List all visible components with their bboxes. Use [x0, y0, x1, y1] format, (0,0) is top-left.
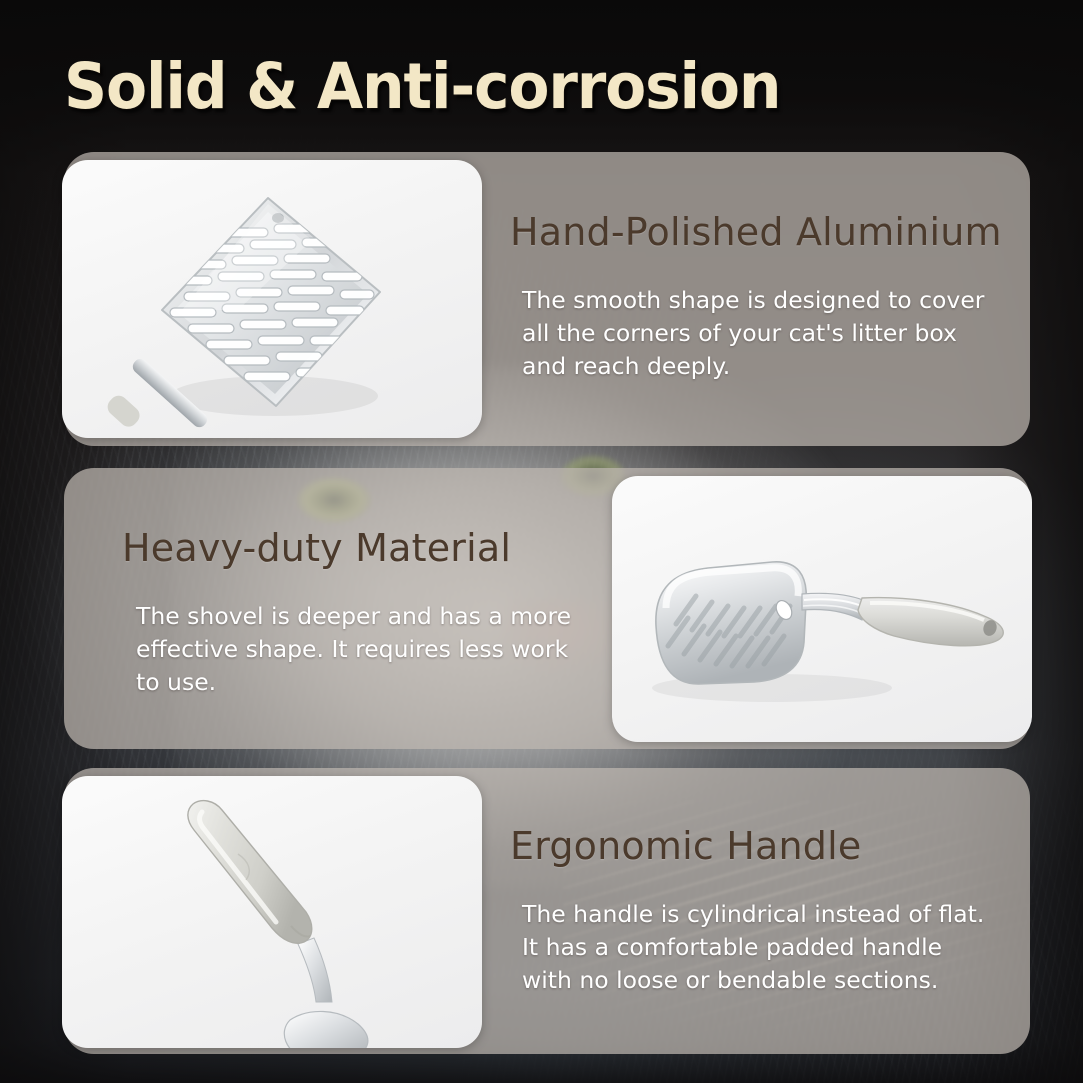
scoop-head-diamond-icon — [62, 160, 482, 438]
padded-handle — [858, 598, 1003, 646]
handle-closeup-icon — [62, 776, 482, 1048]
product-photo-card-handle-closeup — [62, 776, 482, 1048]
infographic-canvas: Solid & Anti-corrosion — [0, 0, 1083, 1083]
product-photo-card-full-scoop — [612, 476, 1032, 742]
scoop-neck — [802, 593, 868, 620]
feature-panel-ergonomic-handle: Ergonomic Handle The handle is cylindric… — [64, 768, 1030, 1054]
scoop-bowl-edge — [284, 1011, 368, 1048]
feature-panel-hand-polished-aluminium: Hand-Polished Aluminium The smooth shape… — [64, 152, 1030, 446]
feature-heading: Ergonomic Handle — [510, 824, 861, 868]
handle-metal-shaft — [284, 938, 368, 1048]
feature-text-hand-polished-aluminium: Hand-Polished Aluminium The smooth shape… — [508, 152, 1024, 446]
feature-heading: Hand-Polished Aluminium — [510, 210, 1002, 254]
feature-body: The smooth shape is designed to cover al… — [522, 284, 1022, 383]
padded-handle — [188, 801, 312, 944]
feature-body: The shovel is deeper and has a more effe… — [136, 600, 636, 699]
feature-text-ergonomic-handle: Ergonomic Handle The handle is cylindric… — [508, 768, 1024, 1054]
feature-heading: Heavy-duty Material — [122, 526, 511, 570]
product-photo-card-scoop-head — [62, 160, 482, 438]
full-scoop-icon — [612, 476, 1032, 742]
feature-body: The handle is cylindrical instead of fla… — [522, 898, 1022, 997]
page-title: Solid & Anti-corrosion — [64, 55, 780, 118]
feature-panel-heavy-duty-material: Heavy-duty Material The shovel is deeper… — [64, 468, 1030, 749]
feature-text-heavy-duty-material: Heavy-duty Material The shovel is deeper… — [104, 468, 620, 749]
